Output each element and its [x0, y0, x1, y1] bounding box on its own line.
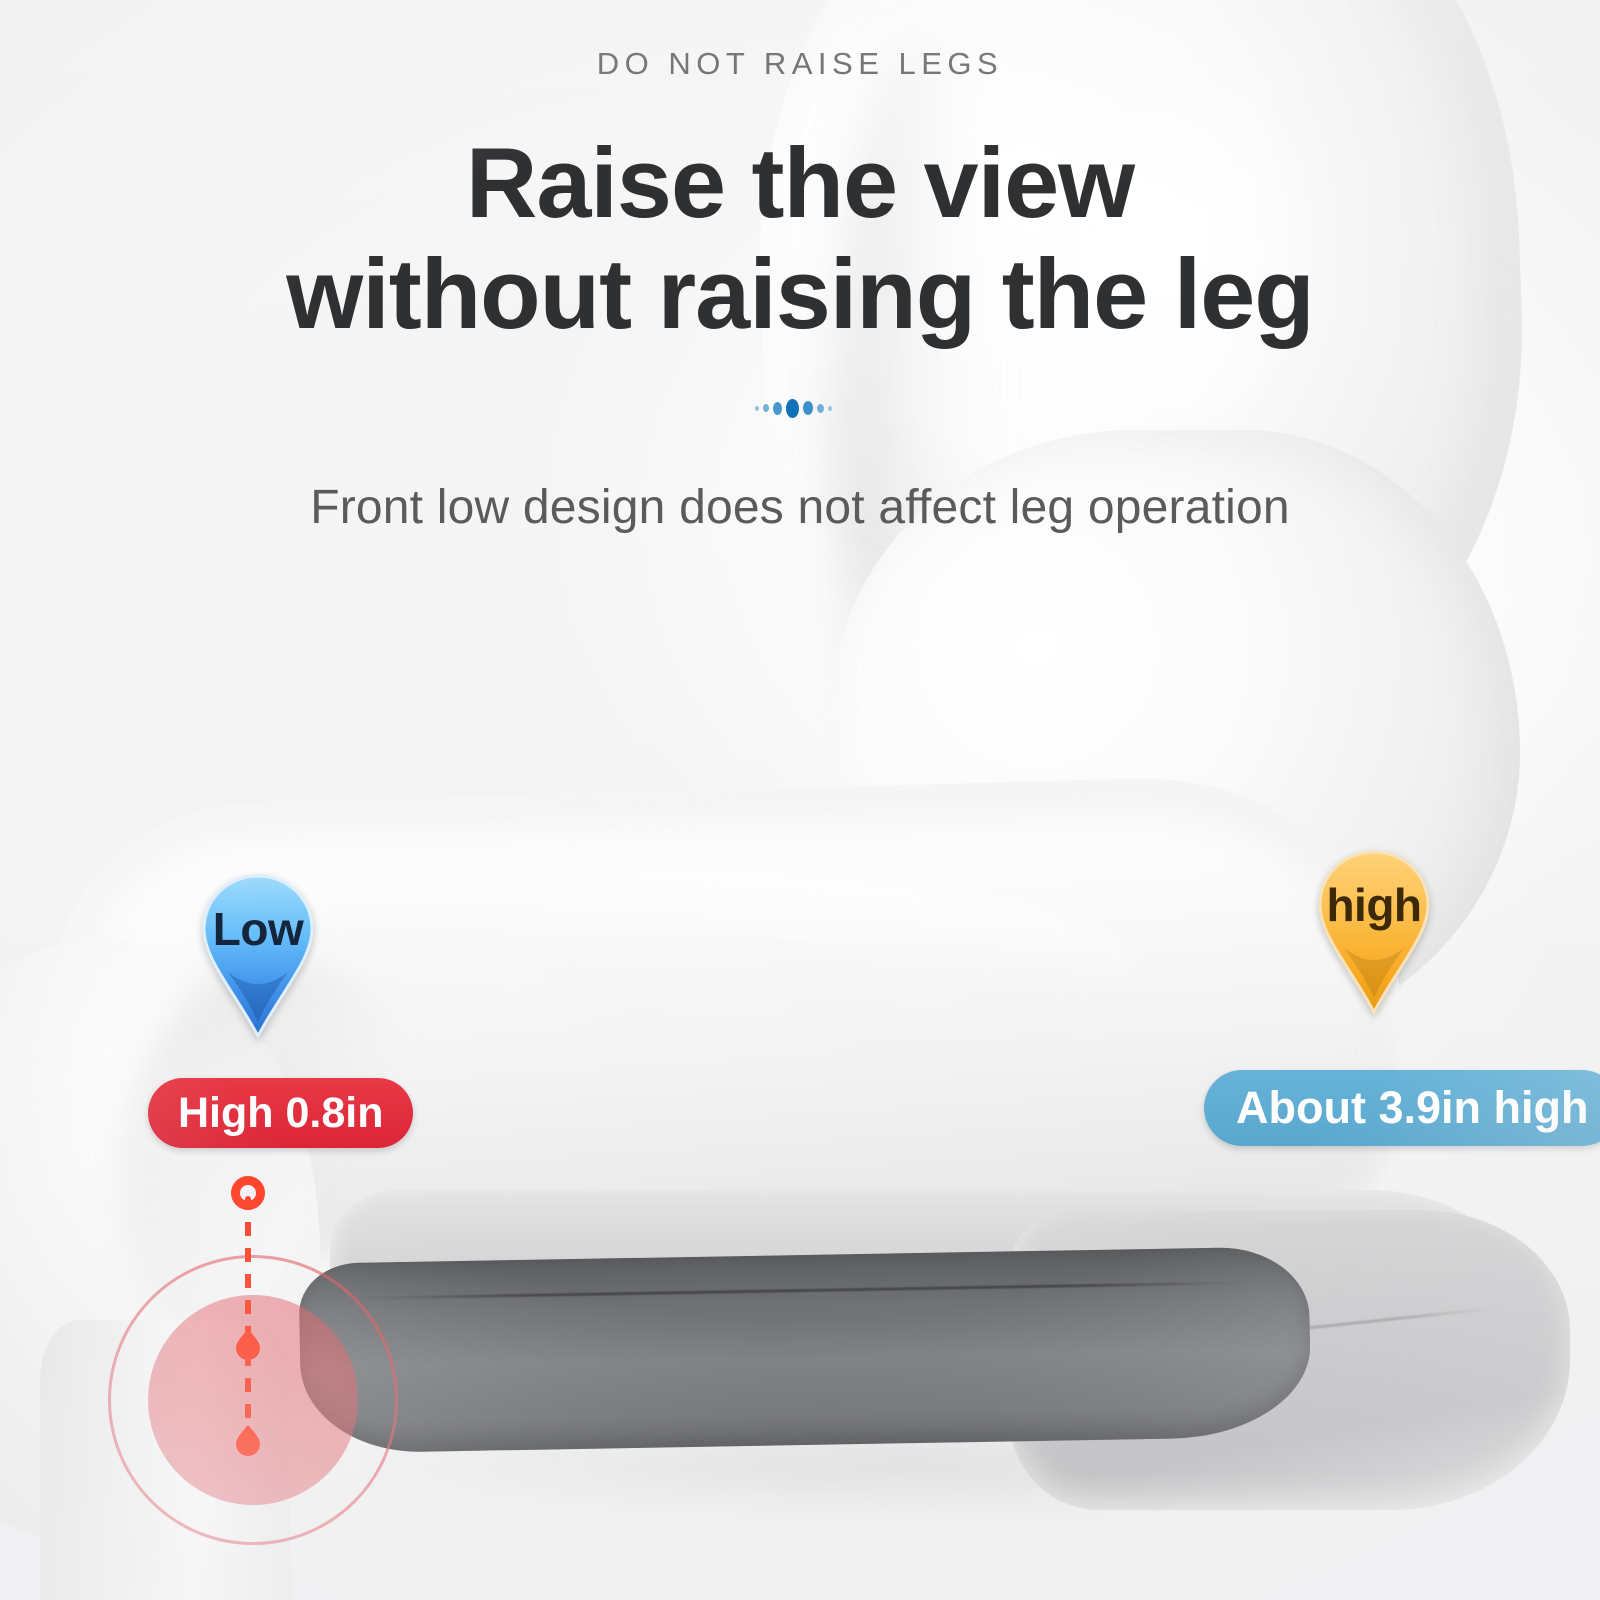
subtitle-text: Front low design does not affect leg ope… [0, 480, 1600, 535]
infographic-canvas: DO NOT RAISE LEGS Raise the view without… [0, 0, 1600, 1600]
page-title: Raise the view without raising the leg [0, 128, 1600, 350]
map-pin-icon [1312, 848, 1436, 1016]
cushion-front-edge [298, 1246, 1311, 1454]
low-pin-label: Low [196, 902, 320, 956]
high-pin-label: high [1312, 878, 1436, 932]
headline-line-1: Raise the view [0, 128, 1600, 239]
mannequin-torso [745, 0, 1536, 733]
cushion-rear-block [1010, 1210, 1570, 1510]
thigh-highlight [240, 870, 1140, 1070]
status-badge-rear-height: About 3.9in high [1204, 1070, 1600, 1146]
low-marker-pin: Low [196, 872, 320, 1040]
pulse-dots-icon [755, 395, 832, 421]
headline-line-2: without raising the leg [0, 239, 1600, 350]
cushion-top-surface [330, 1190, 1520, 1400]
map-pin-icon [196, 872, 320, 1040]
measurement-dashed-line [245, 1196, 251, 1444]
cushion-drop-shadow [340, 1430, 1480, 1520]
callout-filled-circle [148, 1295, 358, 1505]
measurement-teardrop-marker-icon [234, 1424, 262, 1456]
status-badge-front-height: High 0.8in [148, 1078, 413, 1148]
eyebrow-text: DO NOT RAISE LEGS [0, 46, 1600, 82]
measurement-teardrop-marker-icon [234, 1328, 262, 1360]
measurement-ring-marker-icon [231, 1176, 265, 1210]
high-marker-pin: high [1312, 848, 1436, 1016]
